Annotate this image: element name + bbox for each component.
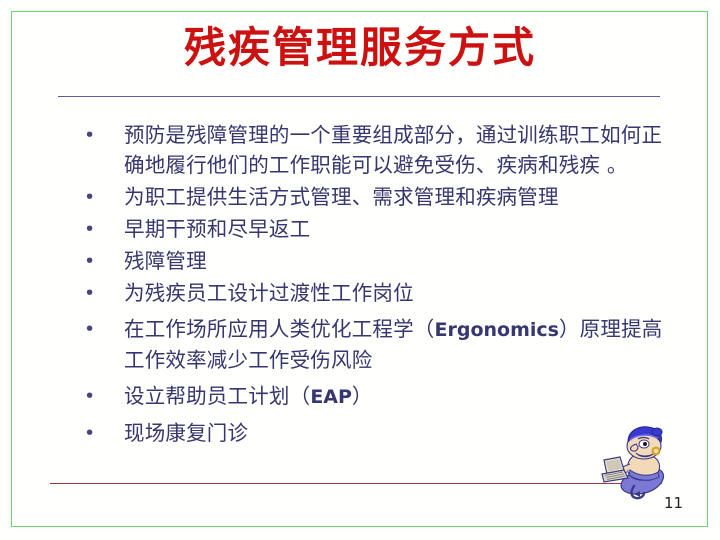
list-item: • 为残疾员工设计过渡性工作岗位 [84,278,664,308]
genie-with-laptop-clipart [600,424,682,500]
list-item-label: 设立帮助员工计划（EAP） [124,381,664,412]
list-item: • 在工作场所应用人类优化工程学（Ergonomics）原理提高工作效率减少工作… [84,314,664,375]
footer-divider-rule [50,483,662,484]
bullet-list: • 预防是残障管理的一个重要组成部分，通过训练职工如何正确地履行他们的工作职能可… [84,120,664,450]
bullet-marker-icon: • [84,418,124,448]
list-item: • 早期干预和尽早返工 [84,214,664,244]
list-item: • 为职工提供生活方式管理、需求管理和疾病管理 [84,182,664,212]
list-item: • 设立帮助员工计划（EAP） [84,381,664,412]
list-item-label: 早期干预和尽早返工 [124,214,664,244]
bullet-marker-icon: • [84,314,124,344]
list-item: • 预防是残障管理的一个重要组成部分，通过训练职工如何正确地履行他们的工作职能可… [84,120,664,180]
bullet-marker-icon: • [84,182,124,212]
bullet-marker-icon: • [84,120,124,150]
list-item-label: 在工作场所应用人类优化工程学（Ergonomics）原理提高工作效率减少工作受伤… [124,314,664,375]
list-item-label: 预防是残障管理的一个重要组成部分，通过训练职工如何正确地履行他们的工作职能可以避… [124,120,664,180]
page-title: 残疾管理服务方式 [0,22,720,75]
title-divider-rule [58,96,660,97]
slide-canvas: 残疾管理服务方式 • 预防是残障管理的一个重要组成部分，通过训练职工如何正确地履… [0,0,720,540]
page-number: 11 [664,494,683,512]
bullet-marker-icon: • [84,278,124,308]
bullet-marker-icon: • [84,246,124,276]
list-item: • 残障管理 [84,246,664,276]
list-item: • 现场康复门诊 [84,418,664,448]
bullet-marker-icon: • [84,381,124,411]
list-item-label: 为职工提供生活方式管理、需求管理和疾病管理 [124,182,664,212]
list-item-label: 残障管理 [124,246,664,276]
bullet-marker-icon: • [84,214,124,244]
list-item-label: 为残疾员工设计过渡性工作岗位 [124,278,664,308]
list-item-label: 现场康复门诊 [124,418,664,448]
